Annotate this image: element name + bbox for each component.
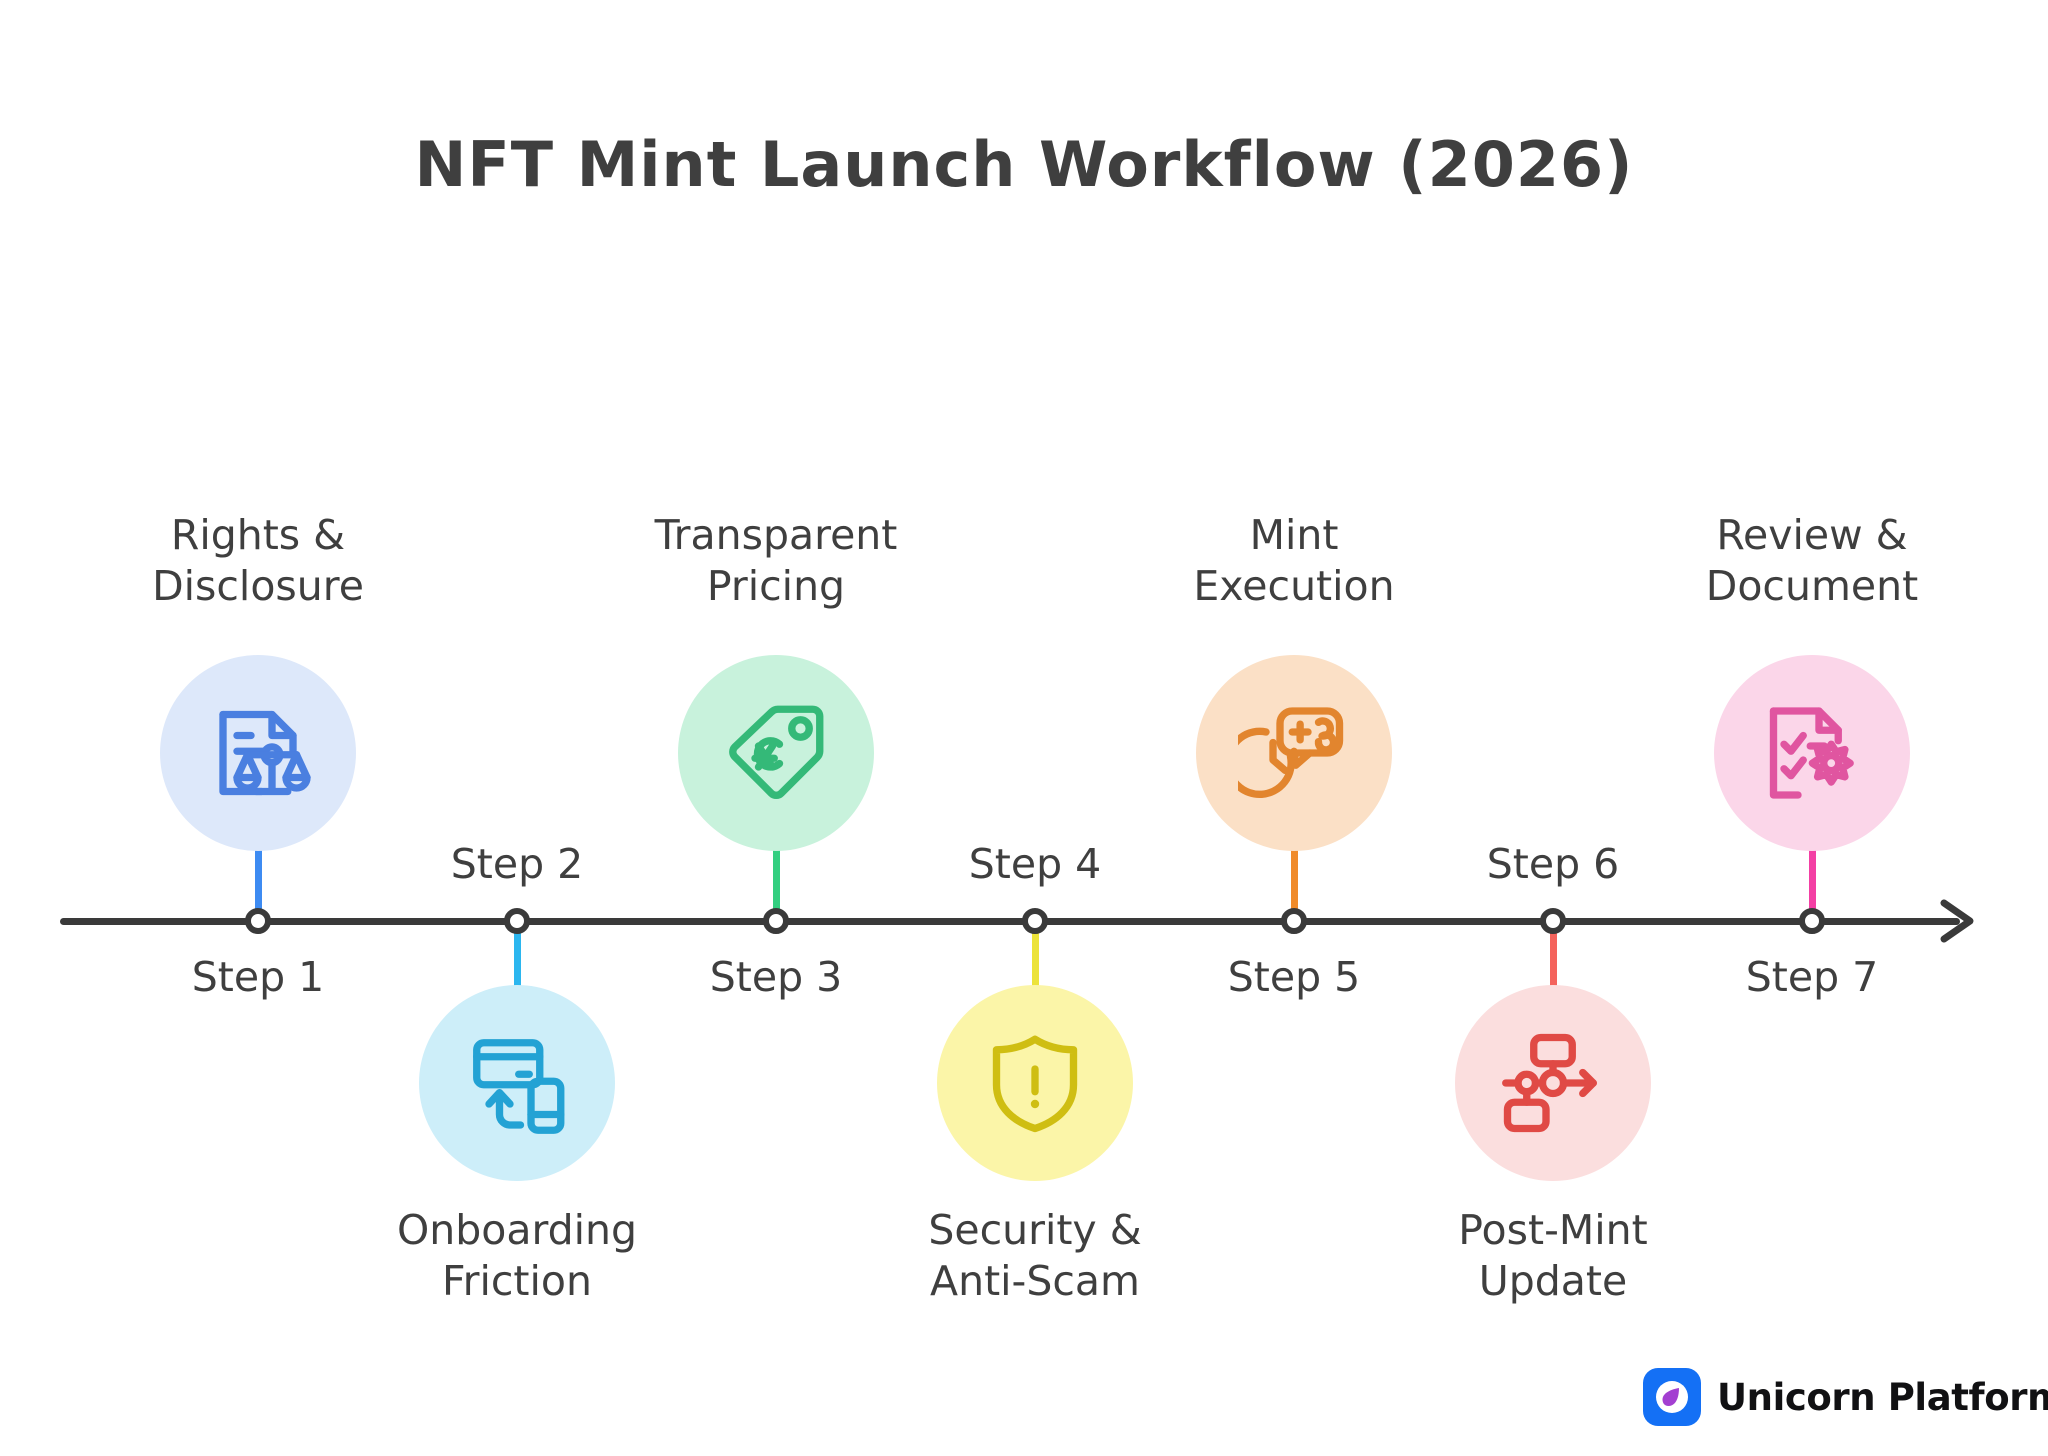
document-scales-icon[interactable] [160, 655, 356, 851]
unicorn-platform-logo-icon [1643, 1368, 1701, 1426]
timeline-node[interactable] [1281, 908, 1307, 934]
step-number-label: Step 4 [865, 840, 1205, 888]
timeline-node[interactable] [245, 908, 271, 934]
card-phone-transfer-icon[interactable] [419, 985, 615, 1181]
timeline-node[interactable] [1799, 908, 1825, 934]
step-name: MintExecution [1094, 510, 1494, 612]
step-name: Review &Document [1612, 510, 2012, 612]
step-name: Post-MintUpdate [1353, 1205, 1753, 1307]
timeline-axis [60, 918, 1960, 925]
brand-name: Unicorn Platform [1717, 1376, 2048, 1419]
timeline-node[interactable] [504, 908, 530, 934]
diagram-canvas: NFT Mint Launch Workflow (2026) Rights &… [0, 0, 2048, 1456]
arrow-right-icon [1936, 895, 1988, 947]
step-number-label: Step 1 [88, 953, 428, 1001]
step-name: OnboardingFriction [317, 1205, 717, 1307]
brand-logo: Unicorn Platform [1643, 1368, 2048, 1426]
step-number-label: Step 5 [1124, 953, 1464, 1001]
checklist-gear-icon[interactable] [1714, 655, 1910, 851]
step-name: Security &Anti-Scam [835, 1205, 1235, 1307]
shield-alert-icon[interactable] [937, 985, 1133, 1181]
step-number-label: Step 6 [1383, 840, 1723, 888]
timeline-node[interactable] [763, 908, 789, 934]
timeline-node[interactable] [1540, 908, 1566, 934]
clock-plus-three-icon[interactable] [1196, 655, 1392, 851]
step-number-label: Step 2 [347, 840, 687, 888]
timeline-node[interactable] [1022, 908, 1048, 934]
price-tag-icon[interactable] [678, 655, 874, 851]
step-number-label: Step 3 [606, 953, 946, 1001]
step-name: Rights &Disclosure [58, 510, 458, 612]
page-title: NFT Mint Launch Workflow (2026) [0, 128, 2048, 201]
flowchart-nodes-icon[interactable] [1455, 985, 1651, 1181]
step-number-label: Step 7 [1642, 953, 1982, 1001]
step-name: TransparentPricing [576, 510, 976, 612]
